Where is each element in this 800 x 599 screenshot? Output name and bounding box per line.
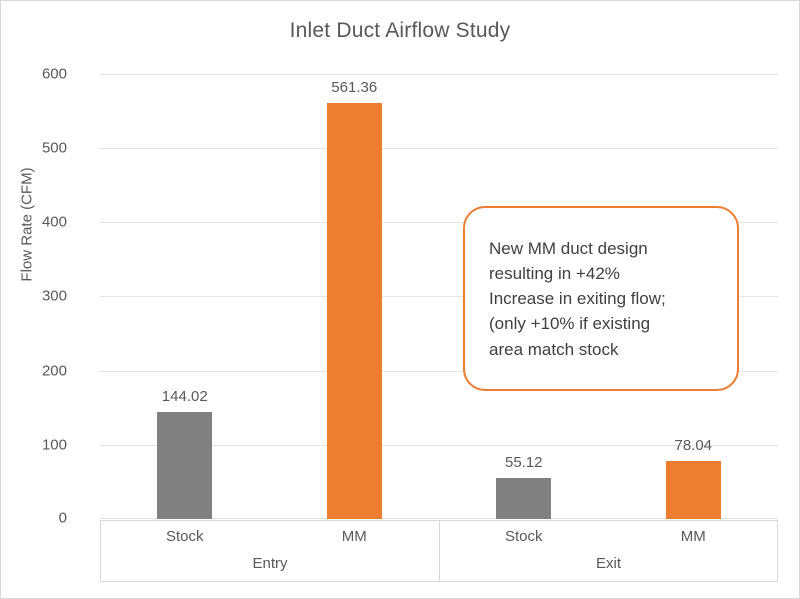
category-group-entry: Entry [100, 520, 439, 582]
bar-exit-mm[interactable] [666, 461, 721, 519]
bar-value-label-exit-stock: 55.12 [505, 454, 543, 471]
bar-value-label-entry-mm: 561.36 [331, 79, 377, 96]
chart-container: Inlet Duct Airflow Study Flow Rate (CFM)… [0, 0, 800, 599]
bar-value-label-exit-mm: 78.04 [674, 437, 712, 454]
y-tick-label-400: 400 [7, 214, 67, 231]
y-tick-label-0: 0 [7, 510, 67, 527]
category-label-exit-stock: Stock [505, 528, 543, 545]
category-group-label-exit: Exit [440, 555, 777, 572]
bar-entry-stock[interactable] [157, 412, 212, 519]
page-title: Inlet Duct Airflow Study [1, 19, 799, 43]
bar-value-label-entry-stock: 144.02 [162, 388, 208, 405]
annotation-callout-text: New MM duct design resulting in +42% Inc… [489, 236, 737, 362]
y-tick-label-300: 300 [7, 288, 67, 305]
gridline-500 [100, 148, 778, 149]
category-label-entry-stock: Stock [166, 528, 204, 545]
gridline-600 [100, 74, 778, 75]
y-tick-label-200: 200 [7, 363, 67, 380]
category-group-exit: Exit [439, 520, 778, 582]
category-label-entry-mm: MM [342, 528, 367, 545]
category-axis: Entry Exit Stock MM Stock MM [100, 520, 778, 582]
y-tick-label-600: 600 [7, 66, 67, 83]
category-group-label-entry: Entry [101, 555, 439, 572]
bar-entry-mm[interactable] [327, 103, 382, 519]
y-tick-label-500: 500 [7, 140, 67, 157]
annotation-callout: New MM duct design resulting in +42% Inc… [463, 206, 739, 391]
bar-exit-stock[interactable] [496, 478, 551, 519]
category-label-exit-mm: MM [681, 528, 706, 545]
y-tick-label-100: 100 [7, 437, 67, 454]
